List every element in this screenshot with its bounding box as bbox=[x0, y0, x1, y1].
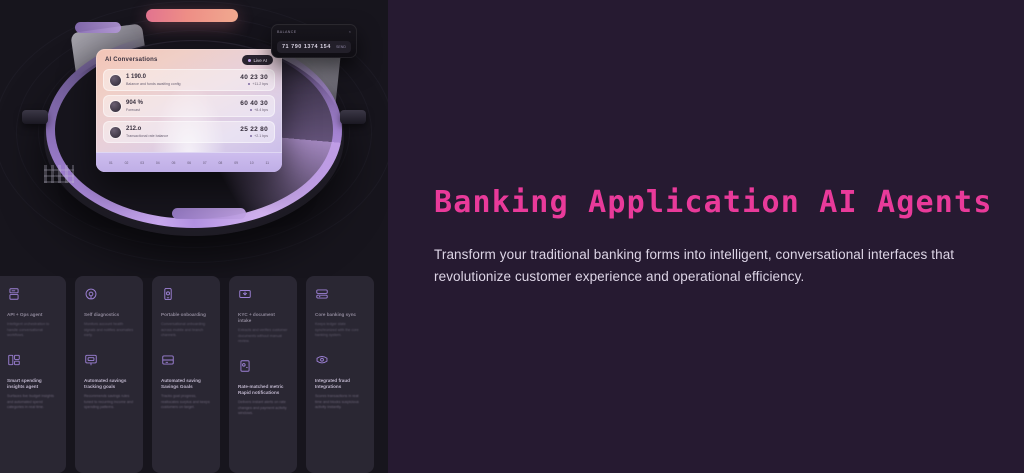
mini-balance-widget: BALANCE × 71 790 1374 154 SEND bbox=[271, 24, 357, 58]
row-delta-label: +8.4 bps bbox=[254, 108, 268, 112]
grid-panels-icon bbox=[7, 353, 21, 367]
feature-item[interactable]: Portable onboarding Conversational onboa… bbox=[161, 287, 211, 353]
row-subtitle: Forecast bbox=[126, 108, 235, 112]
dashboard-row[interactable]: 1 190.0 Balance and funds awaiting confi… bbox=[103, 69, 275, 91]
page-subtitle: Transform your traditional banking forms… bbox=[434, 244, 959, 289]
feature-item[interactable]: Automated saving Savings Goals Tracks go… bbox=[161, 353, 211, 425]
feature-item[interactable]: Rate-matched metric Rapid notifications … bbox=[238, 359, 288, 431]
feature-card-column[interactable]: Core banking sync Keeps ledger state syn… bbox=[306, 276, 374, 473]
fraud-shield-icon bbox=[315, 353, 329, 367]
feature-description: Conversational onboarding across mobile … bbox=[161, 322, 211, 339]
dashboard-header: AI Conversations Live AI bbox=[96, 49, 282, 69]
feature-item[interactable]: Integrated fraud Integrations Scores tra… bbox=[315, 353, 365, 425]
mini-widget-value: 71 790 1374 154 bbox=[282, 44, 331, 50]
axis-tick: 10 bbox=[250, 161, 254, 165]
feature-item[interactable]: Core banking sync Keeps ledger state syn… bbox=[315, 287, 365, 353]
axis-tick: 06 bbox=[187, 161, 191, 165]
feature-description: Scores transactions in real time and blo… bbox=[315, 394, 365, 411]
mini-widget-value-bar[interactable]: 71 790 1374 154 SEND bbox=[277, 41, 351, 53]
page-root: AI Conversations Live AI 1 190.0 Balance… bbox=[0, 0, 1024, 473]
dashboard-card: AI Conversations Live AI 1 190.0 Balance… bbox=[96, 49, 282, 172]
feature-title: Automated saving Savings Goals bbox=[161, 378, 211, 390]
axis-tick: 03 bbox=[140, 161, 144, 165]
row-subtitle: Balance and funds awaiting config bbox=[126, 82, 235, 86]
feature-description: Tracks goal progress, reallocates surplu… bbox=[161, 394, 211, 411]
axis-tick: 09 bbox=[234, 161, 238, 165]
decorative-nub-left bbox=[22, 110, 48, 124]
mini-widget-label: BALANCE bbox=[277, 30, 297, 34]
feature-description: Delivers instant alerts on rate changes … bbox=[238, 400, 288, 417]
decorative-capsule-pink bbox=[146, 9, 238, 22]
feature-title: Smart spending insights agent bbox=[7, 378, 57, 390]
mobile-device-icon bbox=[161, 287, 175, 301]
row-delta-label: +2.1 bps bbox=[254, 134, 268, 138]
row-delta: +2.1 bps bbox=[240, 134, 268, 138]
feature-description: Recommends savings rules tuned to recurr… bbox=[84, 394, 134, 411]
feature-card-grid: API + Ops agent Intelligent orchestratio… bbox=[0, 276, 388, 473]
feature-card-column[interactable]: Self diagnostics Monitors account health… bbox=[75, 276, 143, 473]
page-title: Banking Application AI Agents bbox=[434, 185, 993, 220]
avatar bbox=[110, 127, 121, 138]
feature-description: Keeps ledger state synchronized with the… bbox=[315, 322, 365, 339]
feature-card-column[interactable]: KYC + document intake Extracts and verif… bbox=[229, 276, 297, 473]
row-value: 212.o bbox=[126, 126, 235, 133]
row-amount: 60 40 30 bbox=[240, 100, 268, 107]
dashboard-rows: 1 190.0 Balance and funds awaiting confi… bbox=[96, 69, 282, 143]
feature-item[interactable]: Smart spending insights agent Surfaces l… bbox=[7, 353, 57, 425]
dashboard-title: AI Conversations bbox=[105, 57, 158, 63]
feature-title: Automated savings tracking goals bbox=[84, 378, 134, 390]
decorative-dot-matrix bbox=[44, 165, 74, 183]
feature-title: Portable onboarding bbox=[161, 312, 211, 318]
row-value: 1 190.0 bbox=[126, 74, 235, 81]
row-delta: +11.2 bps bbox=[240, 82, 268, 86]
split-ledger-icon bbox=[161, 353, 175, 367]
feature-item[interactable]: KYC + document intake Extracts and verif… bbox=[238, 287, 288, 359]
axis-tick: 05 bbox=[172, 161, 176, 165]
avatar bbox=[110, 101, 121, 112]
row-subtitle: Transactional rate balance bbox=[126, 134, 235, 138]
dashboard-axis: 01 02 03 04 05 06 07 08 09 10 11 bbox=[96, 152, 282, 172]
feature-title: Self diagnostics bbox=[84, 312, 134, 318]
mini-widget-action[interactable]: SEND bbox=[336, 45, 346, 49]
axis-tick: 01 bbox=[109, 161, 113, 165]
monitor-chat-icon bbox=[84, 353, 98, 367]
axis-tick: 08 bbox=[219, 161, 223, 165]
dashboard-row[interactable]: 904 % Forecast 60 40 30 +8.4 bps bbox=[103, 95, 275, 117]
delta-marker-icon bbox=[248, 83, 251, 86]
decorative-capsule-purple bbox=[75, 22, 121, 33]
content-panel: Banking Application AI Agents Transform … bbox=[388, 0, 1024, 473]
avatar bbox=[110, 75, 121, 86]
axis-tick: 07 bbox=[203, 161, 207, 165]
dashboard-row[interactable]: 212.o Transactional rate balance 25 22 8… bbox=[103, 121, 275, 143]
axis-tick: 02 bbox=[125, 161, 129, 165]
row-value: 904 % bbox=[126, 100, 235, 107]
feature-item[interactable]: API + Ops agent Intelligent orchestratio… bbox=[7, 287, 57, 353]
axis-tick: 04 bbox=[156, 161, 160, 165]
delta-marker-icon bbox=[250, 135, 253, 138]
feature-title: Core banking sync bbox=[315, 312, 365, 318]
status-dot-icon bbox=[248, 59, 251, 62]
feature-title: KYC + document intake bbox=[238, 312, 288, 324]
hero-illustration: AI Conversations Live AI 1 190.0 Balance… bbox=[0, 0, 388, 278]
decorative-nub-right bbox=[340, 110, 366, 124]
feature-card-column[interactable]: API + Ops agent Intelligent orchestratio… bbox=[0, 276, 66, 473]
feature-title: Integrated fraud Integrations bbox=[315, 378, 365, 390]
server-stack-icon bbox=[315, 287, 329, 301]
feature-item[interactable]: Automated savings tracking goals Recomme… bbox=[84, 353, 134, 425]
inbox-download-icon bbox=[238, 287, 252, 301]
decorative-capsule-lilac bbox=[172, 208, 246, 219]
row-delta-label: +11.2 bps bbox=[252, 82, 268, 86]
row-amount: 40 23 30 bbox=[240, 74, 268, 81]
dashboard-live-badge[interactable]: Live AI bbox=[242, 55, 273, 65]
feature-title: Rate-matched metric Rapid notifications bbox=[238, 384, 288, 396]
feature-title: API + Ops agent bbox=[7, 312, 57, 318]
feature-item[interactable]: Self diagnostics Monitors account health… bbox=[84, 287, 134, 353]
delta-marker-icon bbox=[250, 109, 253, 112]
close-icon[interactable]: × bbox=[349, 29, 351, 34]
row-amount: 25 22 80 bbox=[240, 126, 268, 133]
axis-tick: 11 bbox=[266, 161, 270, 165]
feature-description: Intelligent orchestration to handle conv… bbox=[7, 322, 57, 339]
id-card-icon bbox=[238, 359, 252, 373]
feature-card-column[interactable]: Portable onboarding Conversational onboa… bbox=[152, 276, 220, 473]
dashboard-badge-label: Live AI bbox=[253, 58, 267, 63]
document-stack-icon bbox=[7, 287, 21, 301]
camera-shutter-icon bbox=[84, 287, 98, 301]
feature-description: Extracts and verifies customer documents… bbox=[238, 328, 288, 345]
feature-description: Monitors account health signals and noti… bbox=[84, 322, 134, 339]
feature-description: Surfaces live budget insights and automa… bbox=[7, 394, 57, 411]
row-delta: +8.4 bps bbox=[240, 108, 268, 112]
hero-panel: AI Conversations Live AI 1 190.0 Balance… bbox=[0, 0, 388, 473]
